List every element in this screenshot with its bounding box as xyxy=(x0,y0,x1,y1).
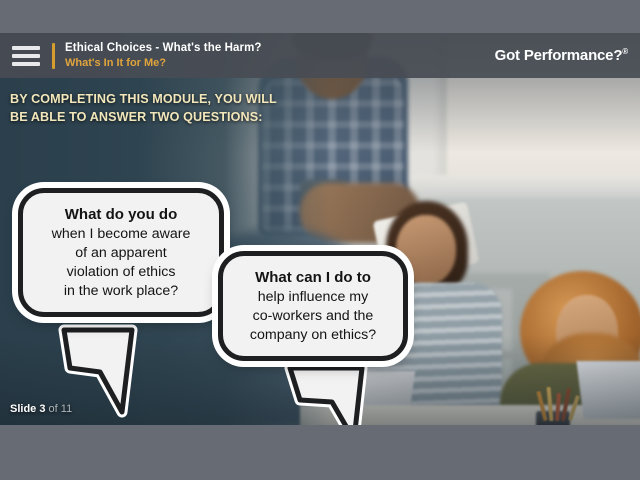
slide-counter: Slide 3 of 11 xyxy=(10,403,72,415)
slide-counter-total: of 11 xyxy=(49,403,73,415)
brand-logo: Got Performance?® xyxy=(495,47,640,64)
question-bubble-2-tail xyxy=(288,366,378,425)
bubble-1-line-2: when I become aware xyxy=(37,225,205,244)
slide-heading-line-2: BE ABLE TO ANSWER TWO QUESTIONS: xyxy=(10,109,310,127)
bubble-1-line-5: in the work place? xyxy=(37,282,205,301)
bubble-1-line-4: violation of ethics xyxy=(37,263,205,282)
bubble-2-line-4: company on ethics? xyxy=(237,326,389,345)
question-bubble-2: What can I do to help influence my co-wo… xyxy=(218,251,408,361)
slide-heading: BY COMPLETING THIS MODULE, YOU WILL BE A… xyxy=(10,91,310,127)
bubble-1-line-1: What do you do xyxy=(37,205,205,225)
photo-window-sill xyxy=(400,175,640,197)
header-titles: Ethical Choices - What's the Harm? What'… xyxy=(65,42,262,70)
bubble-2-line-3: co-workers and the xyxy=(237,307,389,326)
bubble-1-line-3: of an apparent xyxy=(37,244,205,263)
bubble-2-line-1: What can I do to xyxy=(237,268,389,288)
question-bubble-1-tail xyxy=(60,328,150,418)
player-frame: BY COMPLETING THIS MODULE, YOU WILL BE A… xyxy=(0,0,640,480)
slide-counter-current: Slide 3 xyxy=(10,403,45,415)
brand-logo-text: Got Performance? xyxy=(495,47,623,64)
header-divider xyxy=(52,43,55,69)
question-bubble-1: What do you do when I become aware of an… xyxy=(18,188,224,317)
bubble-2-line-2: help influence my xyxy=(237,288,389,307)
hamburger-menu-icon[interactable] xyxy=(0,33,48,78)
slide-heading-line-1: BY COMPLETING THIS MODULE, YOU WILL xyxy=(10,91,310,109)
brand-logo-mark: ® xyxy=(622,47,628,56)
slide-stage: BY COMPLETING THIS MODULE, YOU WILL BE A… xyxy=(0,33,640,425)
slide-header-bar: Ethical Choices - What's the Harm? What'… xyxy=(0,33,640,78)
lesson-title: What's In It for Me? xyxy=(65,57,262,70)
course-title: Ethical Choices - What's the Harm? xyxy=(65,42,262,55)
question-bubble-2-box: What can I do to help influence my co-wo… xyxy=(218,251,408,361)
player-bottom-bar xyxy=(0,425,640,480)
question-bubble-1-box: What do you do when I become aware of an… xyxy=(18,188,224,317)
